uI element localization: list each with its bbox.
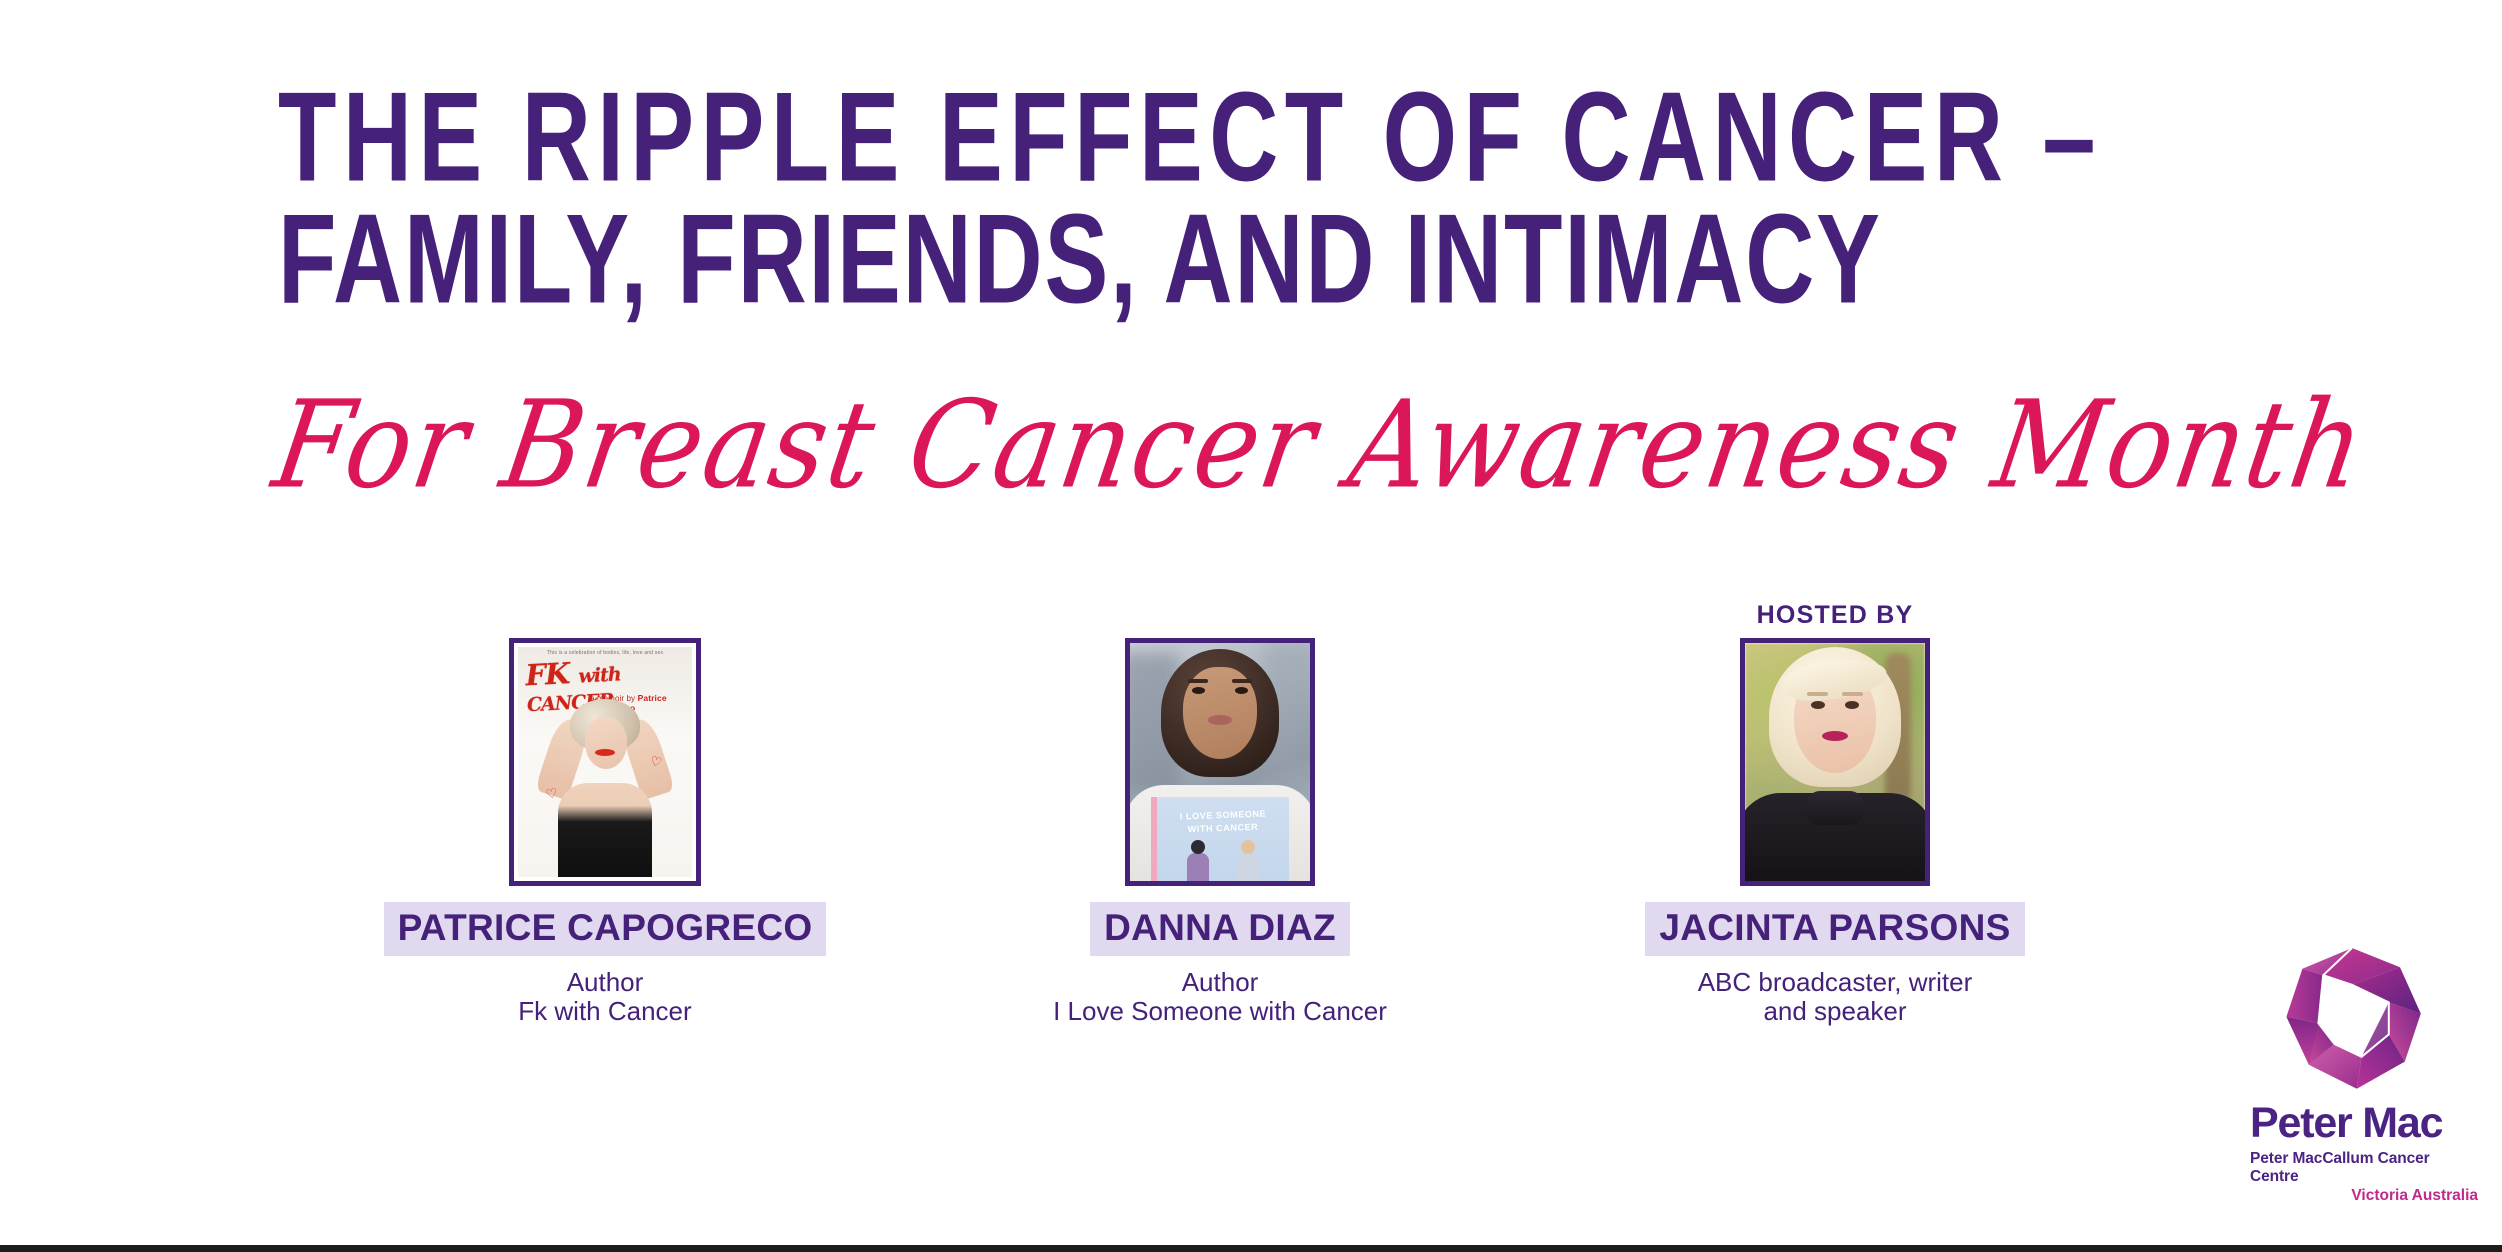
peter-mac-logo: Peter Mac Peter MacCallum Cancer Centre …: [2250, 940, 2480, 1205]
speakers-row: This is a celebration of bodies, life, l…: [440, 600, 2000, 1240]
portrait-eye: [1192, 687, 1205, 694]
page-title: THE RIPPLE EFFECT OF CANCER – FAMILY, FR…: [278, 78, 2338, 306]
portrait-eyebrow: [1842, 692, 1863, 696]
portrait-lips: [1208, 715, 1232, 725]
portrait-eye: [1845, 701, 1859, 709]
speaker-role: ABC broadcaster, writer and speaker: [1698, 968, 1973, 1026]
speaker-role-line2: Fk with Cancer: [518, 997, 691, 1026]
speaker-role: Author I Love Someone with Cancer: [1053, 968, 1387, 1026]
portrait-eyebrow: [1232, 679, 1252, 683]
book-cover-frame: This is a celebration of bodies, life, l…: [509, 638, 701, 886]
held-book-figure: [1237, 853, 1259, 881]
logo-subtitle-line1: Peter MacCallum Cancer Centre: [2250, 1150, 2480, 1186]
portrait-eye: [1235, 687, 1248, 694]
event-poster: THE RIPPLE EFFECT OF CANCER – FAMILY, FR…: [0, 0, 2502, 1252]
figure-torso: [558, 783, 652, 877]
held-book: I LOVE SOMEONE WITH CANCER: [1151, 797, 1289, 881]
figure-lips: [595, 749, 615, 756]
bottom-bar: [0, 1245, 2502, 1252]
portrait-photo-danna-diaz: I LOVE SOMEONE WITH CANCER: [1130, 643, 1310, 881]
speaker-name-banner: JACINTA PARSONS: [1645, 902, 2024, 956]
portrait-photo-jacinta-parsons: [1745, 643, 1925, 881]
figure-face: [585, 717, 627, 769]
book-cover-art: This is a celebration of bodies, life, l…: [518, 647, 692, 877]
speaker-name-banner: PATRICE CAPOGRECO: [384, 902, 827, 956]
speaker-role-line2: and speaker: [1698, 997, 1973, 1026]
portrait-eyebrow: [1188, 679, 1208, 683]
portrait-frame-danna-diaz: I LOVE SOMEONE WITH CANCER: [1125, 638, 1315, 886]
speaker-role-line2: I Love Someone with Cancer: [1053, 997, 1387, 1026]
title-line-2: FAMILY, FRIENDS, AND INTIMACY: [278, 200, 2173, 322]
hosted-by-label: HOSTED BY: [1757, 600, 1914, 630]
speaker-jacinta-parsons: HOSTED BY JACINTA PARSONS: [1670, 600, 2000, 1026]
portrait-frame-jacinta-parsons: [1740, 638, 1930, 886]
portrait-eye: [1811, 701, 1825, 709]
speaker-name-banner: DANNA DIAZ: [1090, 902, 1350, 956]
portrait-eyebrow: [1807, 692, 1828, 696]
held-book-line2: WITH CANCER: [1157, 821, 1289, 836]
speaker-role-line1: ABC broadcaster, writer: [1698, 967, 1973, 997]
logo-subtitle-line2: Victoria Australia: [2250, 1187, 2480, 1205]
peter-mac-logo-icon: [2272, 940, 2432, 1100]
book-title-main: FK: [525, 656, 571, 692]
speaker-danna-diaz: I LOVE SOMEONE WITH CANCER DANNA DIAZ Au…: [1055, 600, 1385, 1026]
speaker-role-line1: Author: [567, 967, 644, 997]
book-cover-figure: ♡ ♡: [530, 699, 680, 877]
portrait-lips: [1822, 731, 1848, 741]
logo-wordmark: Peter Mac: [2250, 1102, 2480, 1145]
portrait-collar: [1806, 791, 1864, 825]
speaker-role: Author Fk with Cancer: [518, 968, 691, 1026]
held-book-figure: [1187, 853, 1209, 881]
speaker-patrice-capogreco: This is a celebration of bodies, life, l…: [440, 600, 770, 1026]
subtitle-script: For Breast Cancer Awareness Month: [266, 386, 2373, 507]
held-book-line1: I LOVE SOMEONE: [1157, 808, 1289, 823]
speaker-role-line1: Author: [1182, 967, 1259, 997]
title-line-1: THE RIPPLE EFFECT OF CANCER –: [278, 78, 2173, 200]
